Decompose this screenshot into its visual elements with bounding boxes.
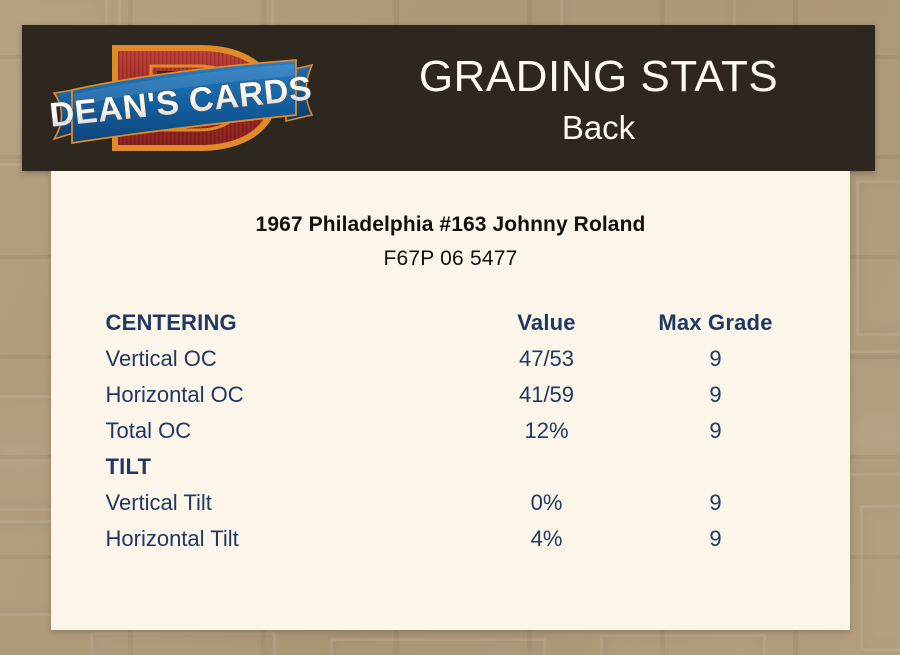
page-root: DEAN'S CARDS GRADING STATS Back 1967 Phi… bbox=[0, 0, 900, 655]
column-header-centering: CENTERING bbox=[106, 305, 458, 341]
section-header-tilt: TILT bbox=[106, 449, 796, 485]
row-label: Horizontal OC bbox=[106, 377, 458, 413]
row-label: Vertical OC bbox=[106, 341, 458, 377]
background-ghost-card bbox=[90, 632, 276, 655]
row-max-grade: 9 bbox=[636, 485, 796, 521]
row-max-grade: 9 bbox=[636, 413, 796, 449]
background-ghost-card bbox=[856, 180, 900, 336]
header-bar: DEAN'S CARDS GRADING STATS Back bbox=[22, 25, 875, 171]
grading-stats-table: CENTERING Value Max Grade Vertical OC 47… bbox=[106, 305, 796, 557]
header-title-block: GRADING STATS Back bbox=[322, 25, 875, 171]
row-max-grade: 9 bbox=[636, 341, 796, 377]
row-label: Horizontal Tilt bbox=[106, 521, 458, 557]
table-row: Vertical OC 47/53 9 bbox=[106, 341, 796, 377]
background-ghost-card bbox=[600, 634, 766, 655]
content-panel: 1967 Philadelphia #163 Johnny Roland F67… bbox=[51, 171, 850, 630]
column-header-value: Value bbox=[458, 305, 636, 341]
row-value: 4% bbox=[458, 521, 636, 557]
card-title: 1967 Philadelphia #163 Johnny Roland bbox=[51, 213, 850, 237]
row-max-grade: 9 bbox=[636, 521, 796, 557]
card-serial-number: F67P 06 5477 bbox=[51, 247, 850, 271]
table-row: Horizontal Tilt 4% 9 bbox=[106, 521, 796, 557]
table-header-row: CENTERING Value Max Grade bbox=[106, 305, 796, 341]
row-value: 12% bbox=[458, 413, 636, 449]
row-value: 41/59 bbox=[458, 377, 636, 413]
page-subtitle: Back bbox=[562, 108, 635, 148]
row-label: Vertical Tilt bbox=[106, 485, 458, 521]
row-max-grade: 9 bbox=[636, 377, 796, 413]
page-title: GRADING STATS bbox=[419, 52, 778, 102]
table-row: Horizontal OC 41/59 9 bbox=[106, 377, 796, 413]
deans-cards-logo[interactable]: DEAN'S CARDS bbox=[50, 27, 318, 169]
section-spacer bbox=[458, 449, 636, 485]
section-spacer bbox=[636, 449, 796, 485]
row-value: 0% bbox=[458, 485, 636, 521]
section-title: TILT bbox=[106, 449, 458, 485]
background-ghost-blob bbox=[846, 412, 900, 458]
background-ghost-card bbox=[330, 638, 546, 655]
table-row: Total OC 12% 9 bbox=[106, 413, 796, 449]
background-ghost-card bbox=[860, 505, 900, 651]
table-row: Vertical Tilt 0% 9 bbox=[106, 485, 796, 521]
row-value: 47/53 bbox=[458, 341, 636, 377]
column-header-max-grade: Max Grade bbox=[636, 305, 796, 341]
row-label: Total OC bbox=[106, 413, 458, 449]
